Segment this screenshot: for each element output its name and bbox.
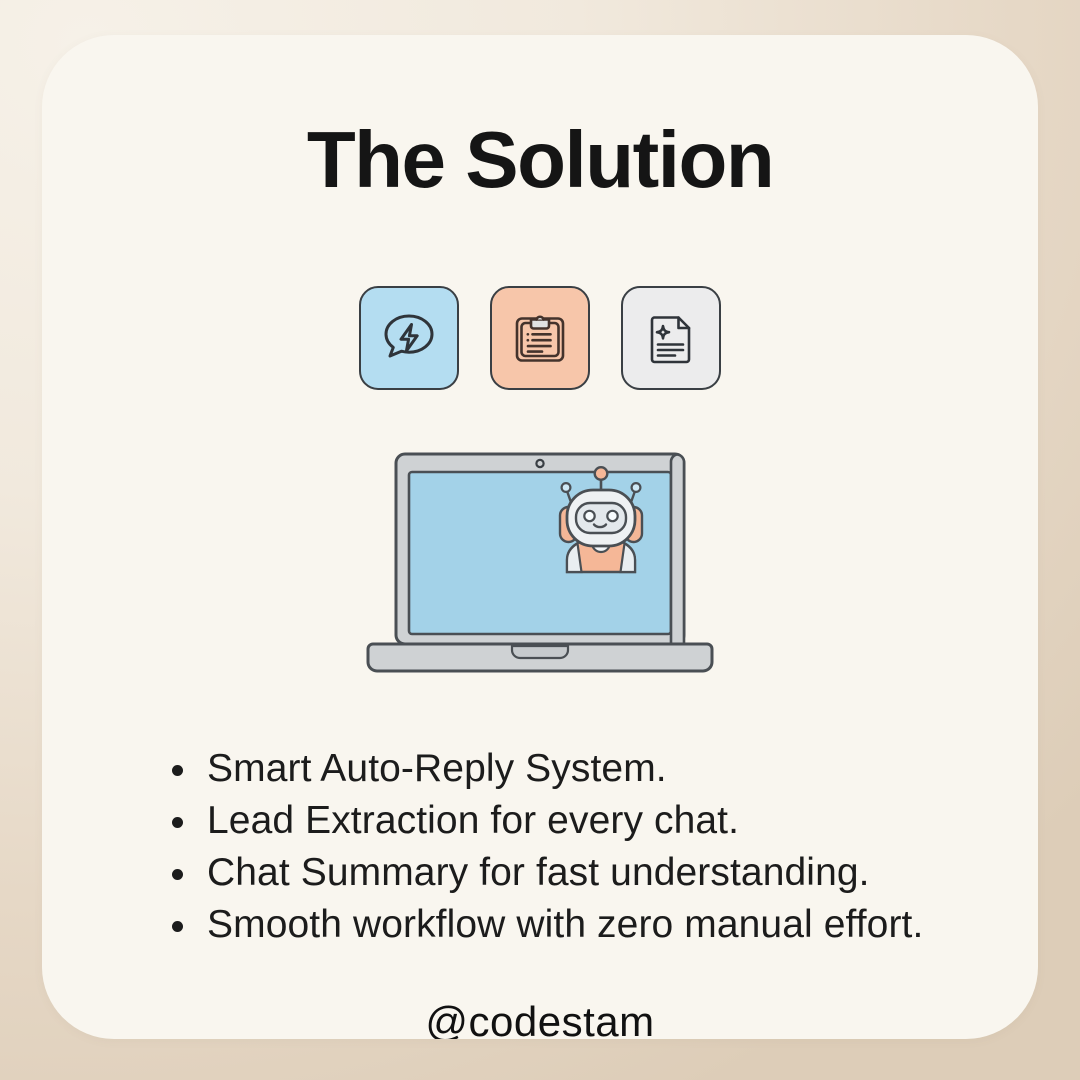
icon-tile-chat-lightning	[359, 286, 459, 390]
laptop-svg	[364, 450, 716, 680]
list-item: Chat Summary for fast understanding.	[162, 847, 1022, 899]
list-item: Lead Extraction for every chat.	[162, 795, 1022, 847]
list-item: Smart Auto-Reply System.	[162, 743, 1022, 795]
list-item-label: Lead Extraction for every chat.	[207, 799, 739, 842]
chat-lightning-icon	[377, 306, 441, 370]
list-item-label: Chat Summary for fast understanding.	[207, 851, 870, 894]
bullet-dot-icon	[172, 765, 183, 776]
list-item-label: Smooth workflow with zero manual effort.	[207, 903, 923, 946]
icon-tile-clipboard	[490, 286, 590, 390]
list-item: Smooth workflow with zero manual effort.	[162, 899, 1022, 951]
laptop-with-robot-illustration	[42, 450, 1038, 680]
content-card: The Solution	[42, 35, 1038, 1039]
icon-tile-document-sparkle	[621, 286, 721, 390]
poster-canvas: The Solution	[0, 0, 1080, 1080]
feature-bullet-list: Smart Auto-Reply System. Lead Extraction…	[162, 743, 1022, 951]
social-handle: @codestam	[42, 998, 1038, 1039]
feature-icon-row	[42, 286, 1038, 390]
bullet-dot-icon	[172, 921, 183, 932]
document-sparkle-icon	[639, 306, 703, 370]
bullet-dot-icon	[172, 817, 183, 828]
bullet-dot-icon	[172, 869, 183, 880]
page-title: The Solution	[42, 120, 1038, 200]
clipboard-lines-icon	[508, 306, 572, 370]
list-item-label: Smart Auto-Reply System.	[207, 747, 667, 790]
